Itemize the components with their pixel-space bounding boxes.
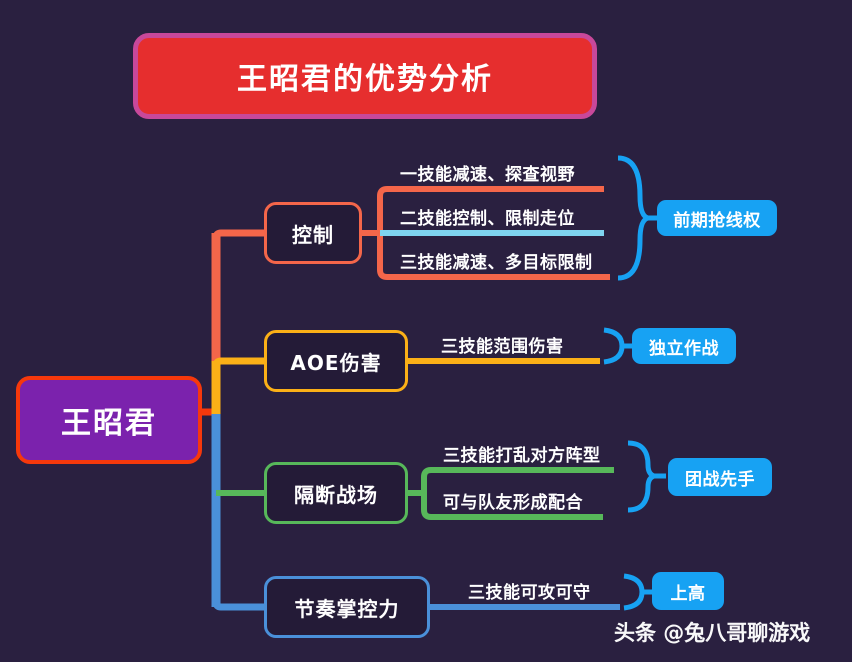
aoe-brace <box>604 330 622 362</box>
outcome-badge-lane-priority[interactable]: 前期抢线权 <box>657 200 777 236</box>
outcome-badge-solo-fight[interactable]: 独立作战 <box>632 328 736 364</box>
branch-node-aoe[interactable]: AOE伤害 <box>264 330 408 392</box>
battle-bracket <box>424 470 431 517</box>
page-title: 王昭君的优势分析 <box>237 54 493 98</box>
leaf-control-1: 一技能减速、探查视野 <box>400 160 575 185</box>
outcome-badge-team-initiate-label: 团战先手 <box>685 465 755 490</box>
outcome-badge-push-high-ground[interactable]: 上高 <box>652 572 724 610</box>
outcome-badge-solo-fight-label: 独立作战 <box>649 334 719 359</box>
tempo-brace <box>624 576 642 608</box>
branch-node-control-label: 控制 <box>292 219 334 248</box>
branch-node-battlefield-label: 隔断战场 <box>294 479 378 508</box>
leaf-control-2: 二技能控制、限制走位 <box>400 204 575 229</box>
outcome-badge-push-high-ground-label: 上高 <box>671 579 706 604</box>
stub-control <box>216 233 264 238</box>
leaf-control-3: 三技能减速、多目标限制 <box>400 248 593 273</box>
leaf-aoe-1: 三技能范围伤害 <box>441 332 564 357</box>
leaf-battlefield-2: 可与队友形成配合 <box>443 488 583 513</box>
stub-aoe <box>216 361 264 366</box>
root-node-label: 王昭君 <box>61 398 157 442</box>
branch-node-tempo[interactable]: 节奏掌控力 <box>264 576 430 638</box>
leaf-battlefield-1: 三技能打乱对方阵型 <box>443 441 601 466</box>
stub-tempo <box>216 602 264 607</box>
control-brace <box>618 158 648 278</box>
branch-node-tempo-label: 节奏掌控力 <box>295 593 400 622</box>
branch-node-aoe-label: AOE伤害 <box>290 347 381 376</box>
outcome-badge-team-initiate[interactable]: 团战先手 <box>668 458 772 496</box>
branch-node-control[interactable]: 控制 <box>264 202 362 264</box>
battle-brace <box>628 443 654 510</box>
branch-node-battlefield[interactable]: 隔断战场 <box>264 462 408 524</box>
outcome-badge-lane-priority-label: 前期抢线权 <box>673 206 761 231</box>
watermark: 头条 @兔八哥聊游戏 <box>614 617 810 647</box>
mindmap-canvas: 王昭君的优势分析 王昭君 控制 AOE伤害 隔断战场 节奏掌控力 一技能减速、探… <box>0 0 852 662</box>
control-bracket <box>380 189 387 277</box>
root-node[interactable]: 王昭君 <box>16 376 202 464</box>
leaf-tempo-1: 三技能可攻可守 <box>468 578 591 603</box>
map-title-banner: 王昭君的优势分析 <box>133 33 597 119</box>
